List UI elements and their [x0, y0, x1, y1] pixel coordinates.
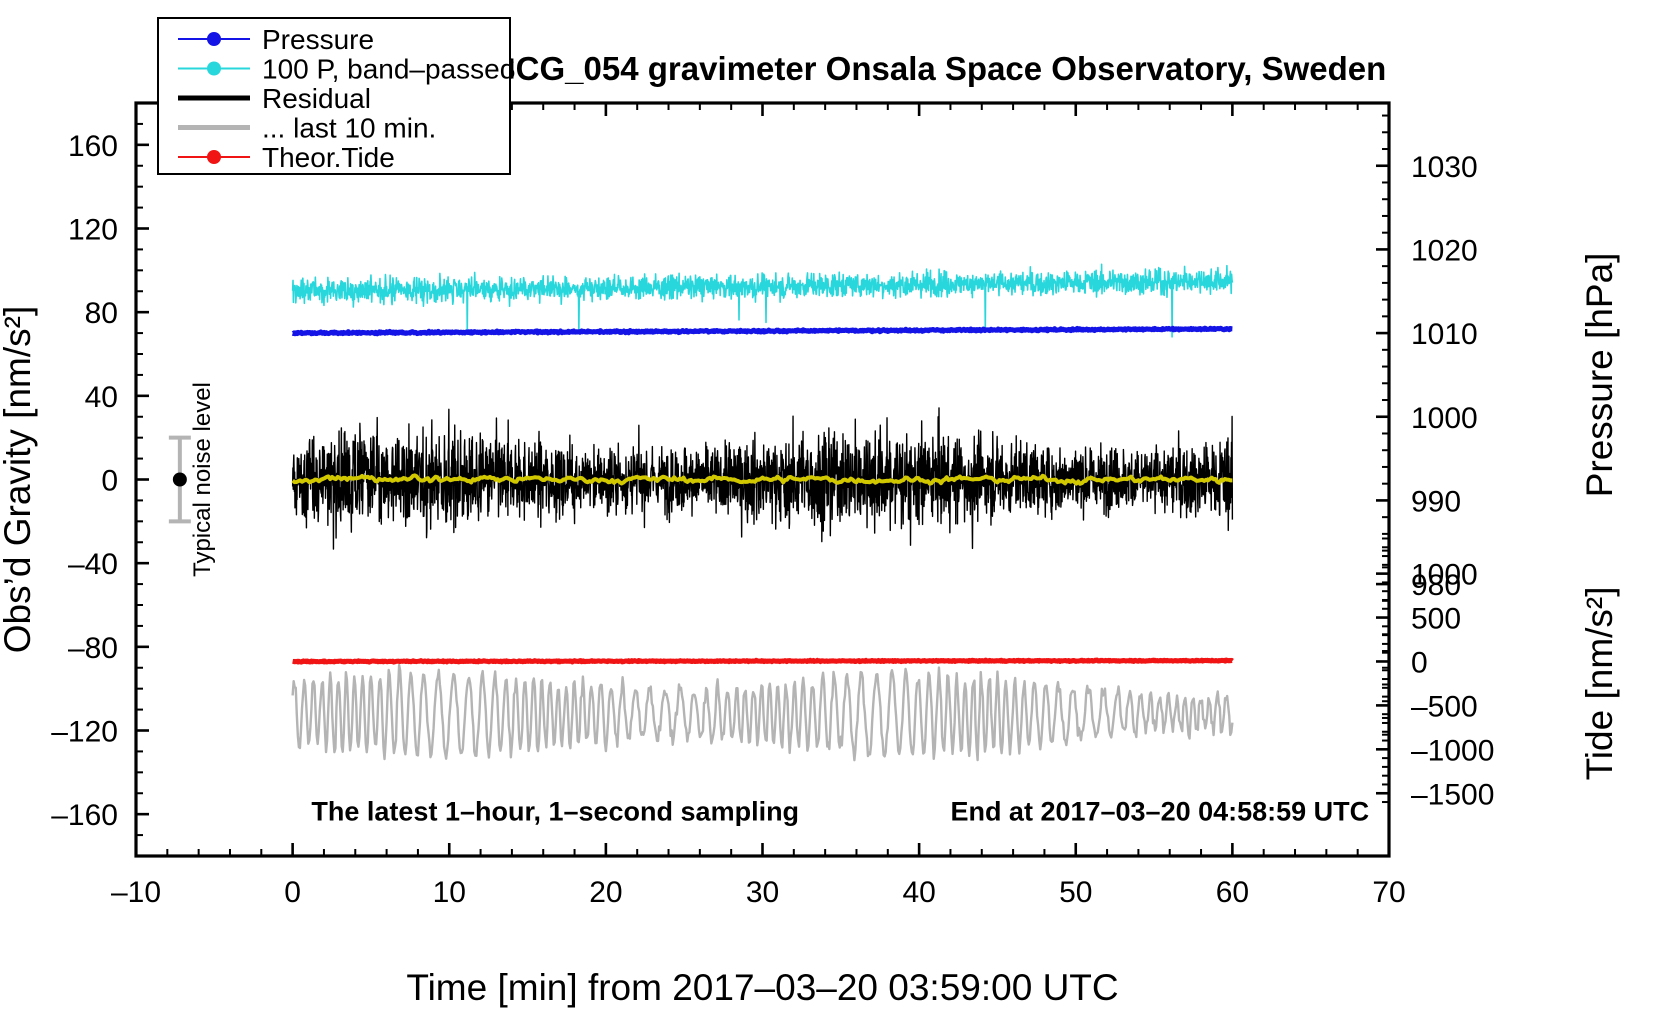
noise-center-point [173, 473, 187, 487]
y-tick-label: –40 [68, 548, 118, 581]
legend-label-4: Theor.Tide [262, 142, 395, 173]
chart-title: SCG_054 gravimeter Onsala Space Observat… [494, 50, 1387, 87]
legend-label-1: 100 P, band–passed [262, 54, 515, 85]
x-tick-label: 0 [284, 876, 301, 909]
tide-tick-label: 500 [1411, 603, 1461, 636]
x-axis-title: Time [min] from 2017–03–20 03:59:00 UTC [406, 967, 1118, 1008]
gravimeter-chart-page: –10010203040506070Time [min] from 2017–0… [0, 0, 1660, 1020]
tide-axis-title: Tide [nm/s²] [1579, 586, 1620, 780]
series-theor-tide [293, 660, 1233, 662]
tide-tick-label: –1000 [1411, 734, 1494, 767]
legend-marker-icon-4 [207, 150, 221, 164]
x-tick-label: 20 [589, 876, 622, 909]
pressure-tick-label: 1030 [1411, 151, 1478, 184]
end-time-note: End at 2017–03–20 04:58:59 UTC [950, 796, 1369, 826]
y-tick-label: –80 [68, 632, 118, 665]
legend-label-0: Pressure [262, 24, 374, 55]
legend-marker-icon-1 [207, 62, 221, 76]
tide-tick-label: 1000 [1411, 559, 1478, 592]
typical-noise-level-label: Typical noise level [189, 382, 216, 577]
tide-tick-label: –1500 [1411, 778, 1494, 811]
x-tick-label: 30 [746, 876, 779, 909]
pressure-tick-label: 990 [1411, 485, 1461, 518]
x-tick-label: 50 [1059, 876, 1092, 909]
x-tick-label: 40 [902, 876, 935, 909]
y-tick-label: –120 [51, 716, 118, 749]
legend-marker-icon-0 [207, 32, 221, 46]
pressure-tick-label: 1010 [1411, 318, 1478, 351]
tide-tick-label: –500 [1411, 690, 1478, 723]
sampling-note: The latest 1–hour, 1–second sampling [311, 796, 799, 826]
x-tick-label: 70 [1372, 876, 1405, 909]
tide-tick-label: 0 [1411, 646, 1428, 679]
y-tick-label: 40 [85, 381, 118, 414]
x-tick-label: 10 [433, 876, 466, 909]
legend-label-2: Residual [262, 83, 371, 114]
y-axis-title: Obs’d Gravity [nm/s²] [0, 306, 38, 653]
pressure-tick-label: 1000 [1411, 402, 1478, 435]
y-tick-label: 0 [101, 465, 118, 498]
pressure-axis-title: Pressure [hPa] [1579, 253, 1620, 498]
pressure-tick-label: 1020 [1411, 234, 1478, 267]
y-tick-label: 120 [68, 214, 118, 247]
y-tick-label: –160 [51, 799, 118, 832]
y-tick-label: 80 [85, 297, 118, 330]
y-tick-label: 160 [68, 130, 118, 163]
legend-label-3: ... last 10 min. [262, 113, 436, 144]
x-tick-label: 60 [1216, 876, 1249, 909]
x-tick-label: –10 [111, 876, 161, 909]
gravimeter-timeseries-chart: –10010203040506070Time [min] from 2017–0… [0, 0, 1660, 1020]
